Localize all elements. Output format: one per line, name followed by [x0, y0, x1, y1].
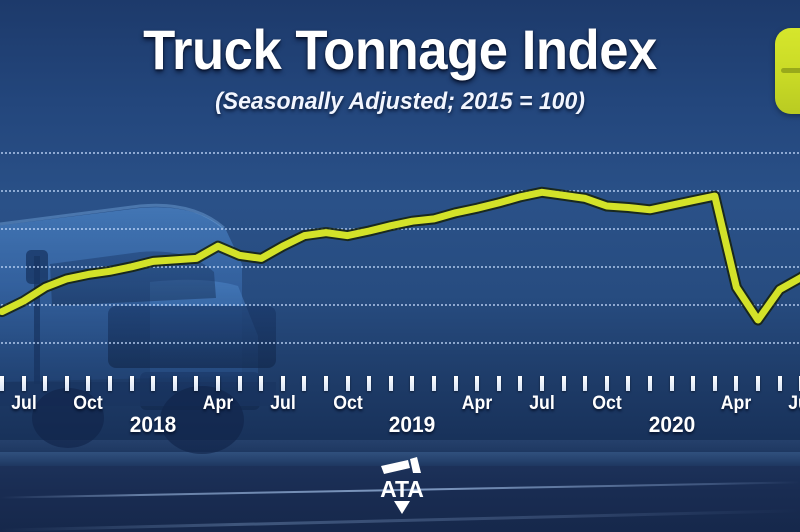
axis-tick: [605, 376, 609, 391]
axis-tick: [281, 376, 285, 391]
axis-tick: [65, 376, 69, 391]
axis-tick: [43, 376, 47, 391]
axis-tick: [778, 376, 782, 391]
chart-subtitle: (Seasonally Adjusted; 2015 = 100): [16, 88, 784, 116]
axis-tick: [346, 376, 350, 391]
axis-tick: [734, 376, 738, 391]
axis-tick: [302, 376, 306, 391]
axis-tick: [108, 376, 112, 391]
axis-tick: [324, 376, 328, 391]
axis-tick: [216, 376, 220, 391]
axis-tick: [756, 376, 760, 391]
axis-tick: [130, 376, 134, 391]
axis-tick: [626, 376, 630, 391]
axis-year-label: 2018: [130, 412, 177, 438]
axis-tick: [475, 376, 479, 391]
axis-month-label: Jul: [788, 393, 800, 415]
axis-month-label: Oct: [333, 393, 362, 415]
axis-year-label: 2019: [389, 412, 436, 438]
badge-dash-icon: [781, 68, 800, 73]
axis-tick: [86, 376, 90, 391]
axis-month-label: Jul: [529, 393, 555, 415]
ata-logo: ATA: [374, 457, 430, 515]
axis-tick: [454, 376, 458, 391]
axis-month-label: Apr: [203, 393, 233, 415]
corner-badge[interactable]: [775, 28, 800, 114]
axis-year-label: 2020: [648, 412, 695, 438]
axis-tick: [497, 376, 501, 391]
series-line: [2, 192, 800, 320]
axis-month-label: Apr: [721, 393, 751, 415]
axis-month-label: Jul: [270, 393, 296, 415]
series-outline: [2, 192, 800, 320]
page-title: Truck Tonnage Index: [24, 22, 776, 78]
svg-text:ATA: ATA: [380, 476, 424, 502]
axis-tick: [583, 376, 587, 391]
axis-tick: [562, 376, 566, 391]
axis-tick: [389, 376, 393, 391]
axis-tick: [540, 376, 544, 391]
axis-tick: [194, 376, 198, 391]
axis-tick: [670, 376, 674, 391]
axis-tick: [238, 376, 242, 391]
axis-month-label: Oct: [74, 393, 103, 415]
axis-tick: [410, 376, 414, 391]
axis-tick: [0, 376, 4, 391]
axis-month-label: Jul: [11, 393, 37, 415]
tonnage-chart-infographic: Truck Tonnage Index (Seasonally Adjusted…: [0, 0, 800, 532]
axis-tick: [432, 376, 436, 391]
axis-tick: [648, 376, 652, 391]
axis-month-label: Oct: [592, 393, 621, 415]
axis-tick: [151, 376, 155, 391]
x-axis: JulOct2018AprJulOct2019AprJulOct2020AprJ…: [0, 376, 800, 436]
axis-tick: [22, 376, 26, 391]
axis-tick: [173, 376, 177, 391]
axis-tick: [518, 376, 522, 391]
axis-tick: [691, 376, 695, 391]
axis-month-label: Apr: [462, 393, 492, 415]
axis-tick: [259, 376, 263, 391]
axis-tick: [367, 376, 371, 391]
axis-tick: [713, 376, 717, 391]
